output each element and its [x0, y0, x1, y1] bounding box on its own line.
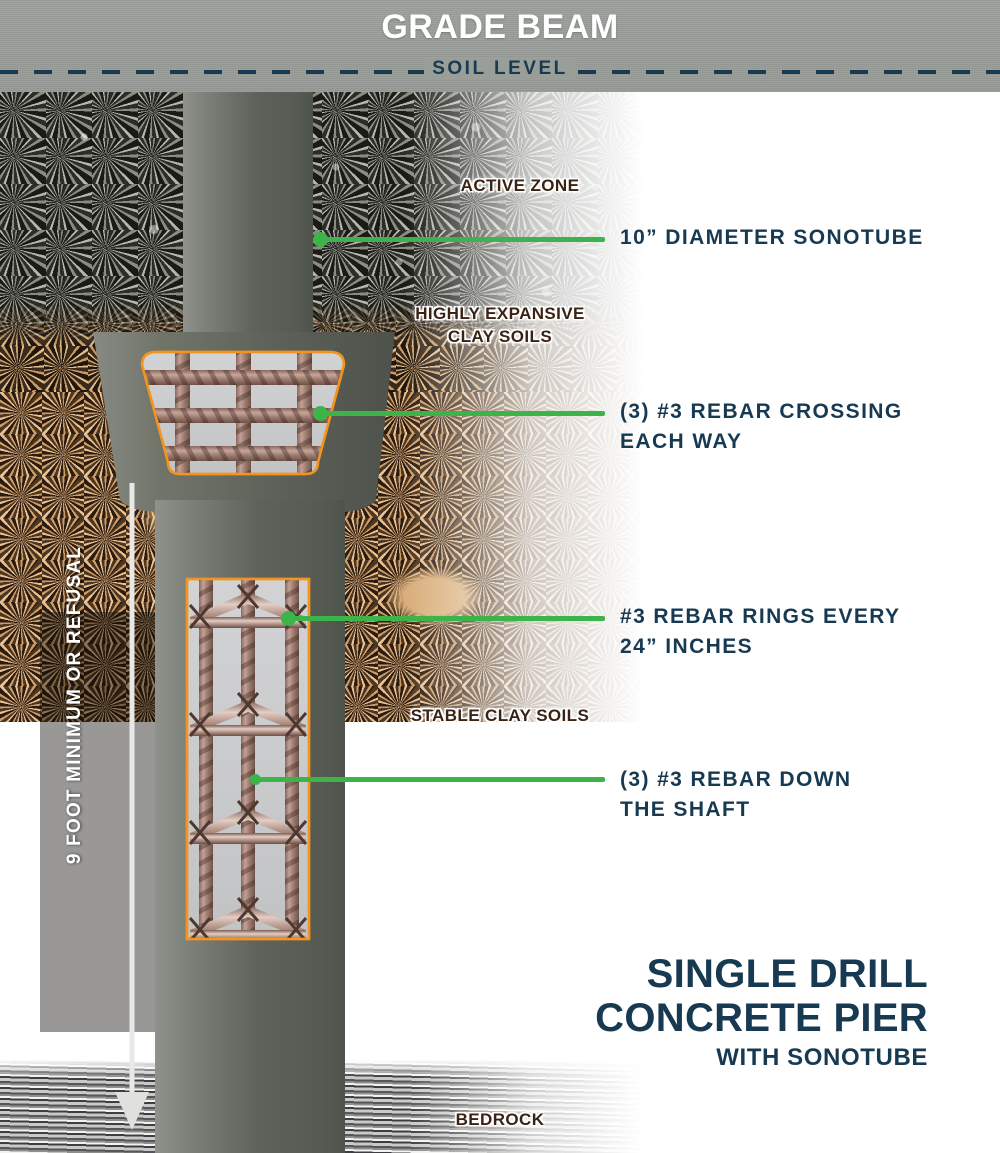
zone-label-stable-clay: STABLE CLAY SOILS — [320, 704, 680, 727]
grade-beam-band: GRADE BEAM SOIL LEVEL — [0, 0, 1000, 92]
soil-level-label-wrap: SOIL LEVEL — [0, 58, 1000, 80]
diagram-title: SINGLE DRILL CONCRETE PIER WITH SONOTUBE — [595, 952, 928, 1072]
grade-beam-title: GRADE BEAM — [0, 8, 1000, 47]
diagram-subtitle: WITH SONOTUBE — [595, 1044, 928, 1072]
diagram-title-line1: SINGLE DRILL — [595, 952, 928, 996]
zone-label-active-zone: ACTIVE ZONE — [380, 174, 660, 197]
callout-label-rebar-shaft: (3) #3 REBAR DOWN THE SHAFT — [620, 765, 990, 825]
callout-leader-sonotube — [320, 237, 605, 242]
diagram-canvas: 9 FOOT MINIMUM OR REFUSAL GRADE BEAM SOI… — [0, 0, 1000, 1153]
callout-label-sonotube: 10” DIAMETER SONOTUBE — [620, 223, 990, 253]
callout-label-rebar-rings: #3 REBAR RINGS EVERY 24” INCHES — [620, 602, 990, 662]
callout-leader-rebar-rings — [288, 616, 605, 621]
soil-level-label: SOIL LEVEL — [424, 58, 576, 80]
callout-leader-rebar-crossing — [320, 411, 605, 416]
diagram-title-line2: CONCRETE PIER — [595, 996, 928, 1040]
zone-label-expansive-clay: HIGHLY EXPANSIVE CLAY SOILS — [320, 302, 680, 348]
depth-dimension-label: 9 FOOT MINIMUM OR REFUSAL — [60, 545, 90, 865]
zone-label-bedrock: BEDROCK — [350, 1108, 650, 1131]
callout-leader-rebar-shaft — [255, 777, 605, 782]
callout-label-rebar-crossing: (3) #3 REBAR CROSSING EACH WAY — [620, 397, 990, 457]
